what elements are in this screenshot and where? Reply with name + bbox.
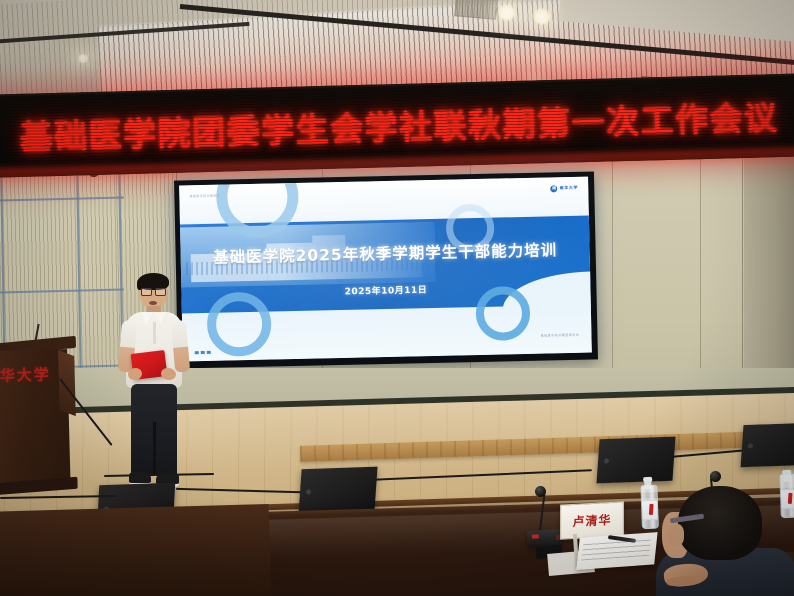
led-banner-text: 基础医学院团委学生会学社联秋期第一次工作会议 [19, 91, 779, 159]
name-placard-text: 卢清华 [573, 511, 612, 530]
presenter-pants [131, 384, 177, 476]
podium-side-panel [58, 350, 76, 416]
microphone-head-icon [710, 471, 721, 482]
glasses-icon [141, 288, 166, 294]
presenter-placket [153, 322, 156, 344]
presenter-arm-right [171, 319, 190, 372]
loudspeaker-icon [596, 437, 675, 484]
slide-dot [195, 351, 199, 354]
slide-logo: 南 南华大学 [551, 185, 579, 193]
microphone-head-icon [535, 486, 546, 497]
audience-member [656, 486, 794, 596]
bottle-cap [782, 470, 791, 475]
conference-hall-photo: 基础医学院团委学生会学社联秋期第一次工作会议 基础医学院共青团委 南 [0, 0, 794, 596]
slide-dot [201, 351, 205, 354]
loudspeaker-icon [741, 423, 794, 467]
slide-logo-text: 南华大学 [560, 185, 579, 191]
ceiling-light-icon [76, 54, 90, 63]
audience-hair [678, 486, 762, 560]
slide-dot [207, 351, 211, 354]
presenter-mouth [149, 301, 157, 305]
projector-screen: 基础医学院共青团委 南 南华大学 基础医学院2025年秋季学期学生干部能力培训 … [174, 171, 598, 368]
audience-ear [668, 524, 684, 546]
slide-dots-decoration [195, 351, 211, 354]
screen-icon: 基础医学院共青团委 南 南华大学 基础医学院2025年秋季学期学生干部能力培训 … [179, 177, 592, 362]
desk-left-section [0, 504, 271, 596]
slide-brand-left: 基础医学院共青团委 [190, 193, 221, 198]
bottle-cap [643, 477, 652, 482]
podium: 华大学 [0, 339, 74, 511]
slide-footer-right: 基础医学院共青团委员会 [541, 333, 580, 338]
university-logo-icon: 南 [551, 185, 558, 192]
name-placard: 卢清华 [560, 501, 624, 539]
mic-indicator-light [532, 534, 539, 538]
bottle-icon [640, 477, 657, 529]
ceiling-light-icon [530, 8, 554, 25]
presenter [118, 276, 188, 506]
ceiling-light-icon [495, 4, 519, 21]
